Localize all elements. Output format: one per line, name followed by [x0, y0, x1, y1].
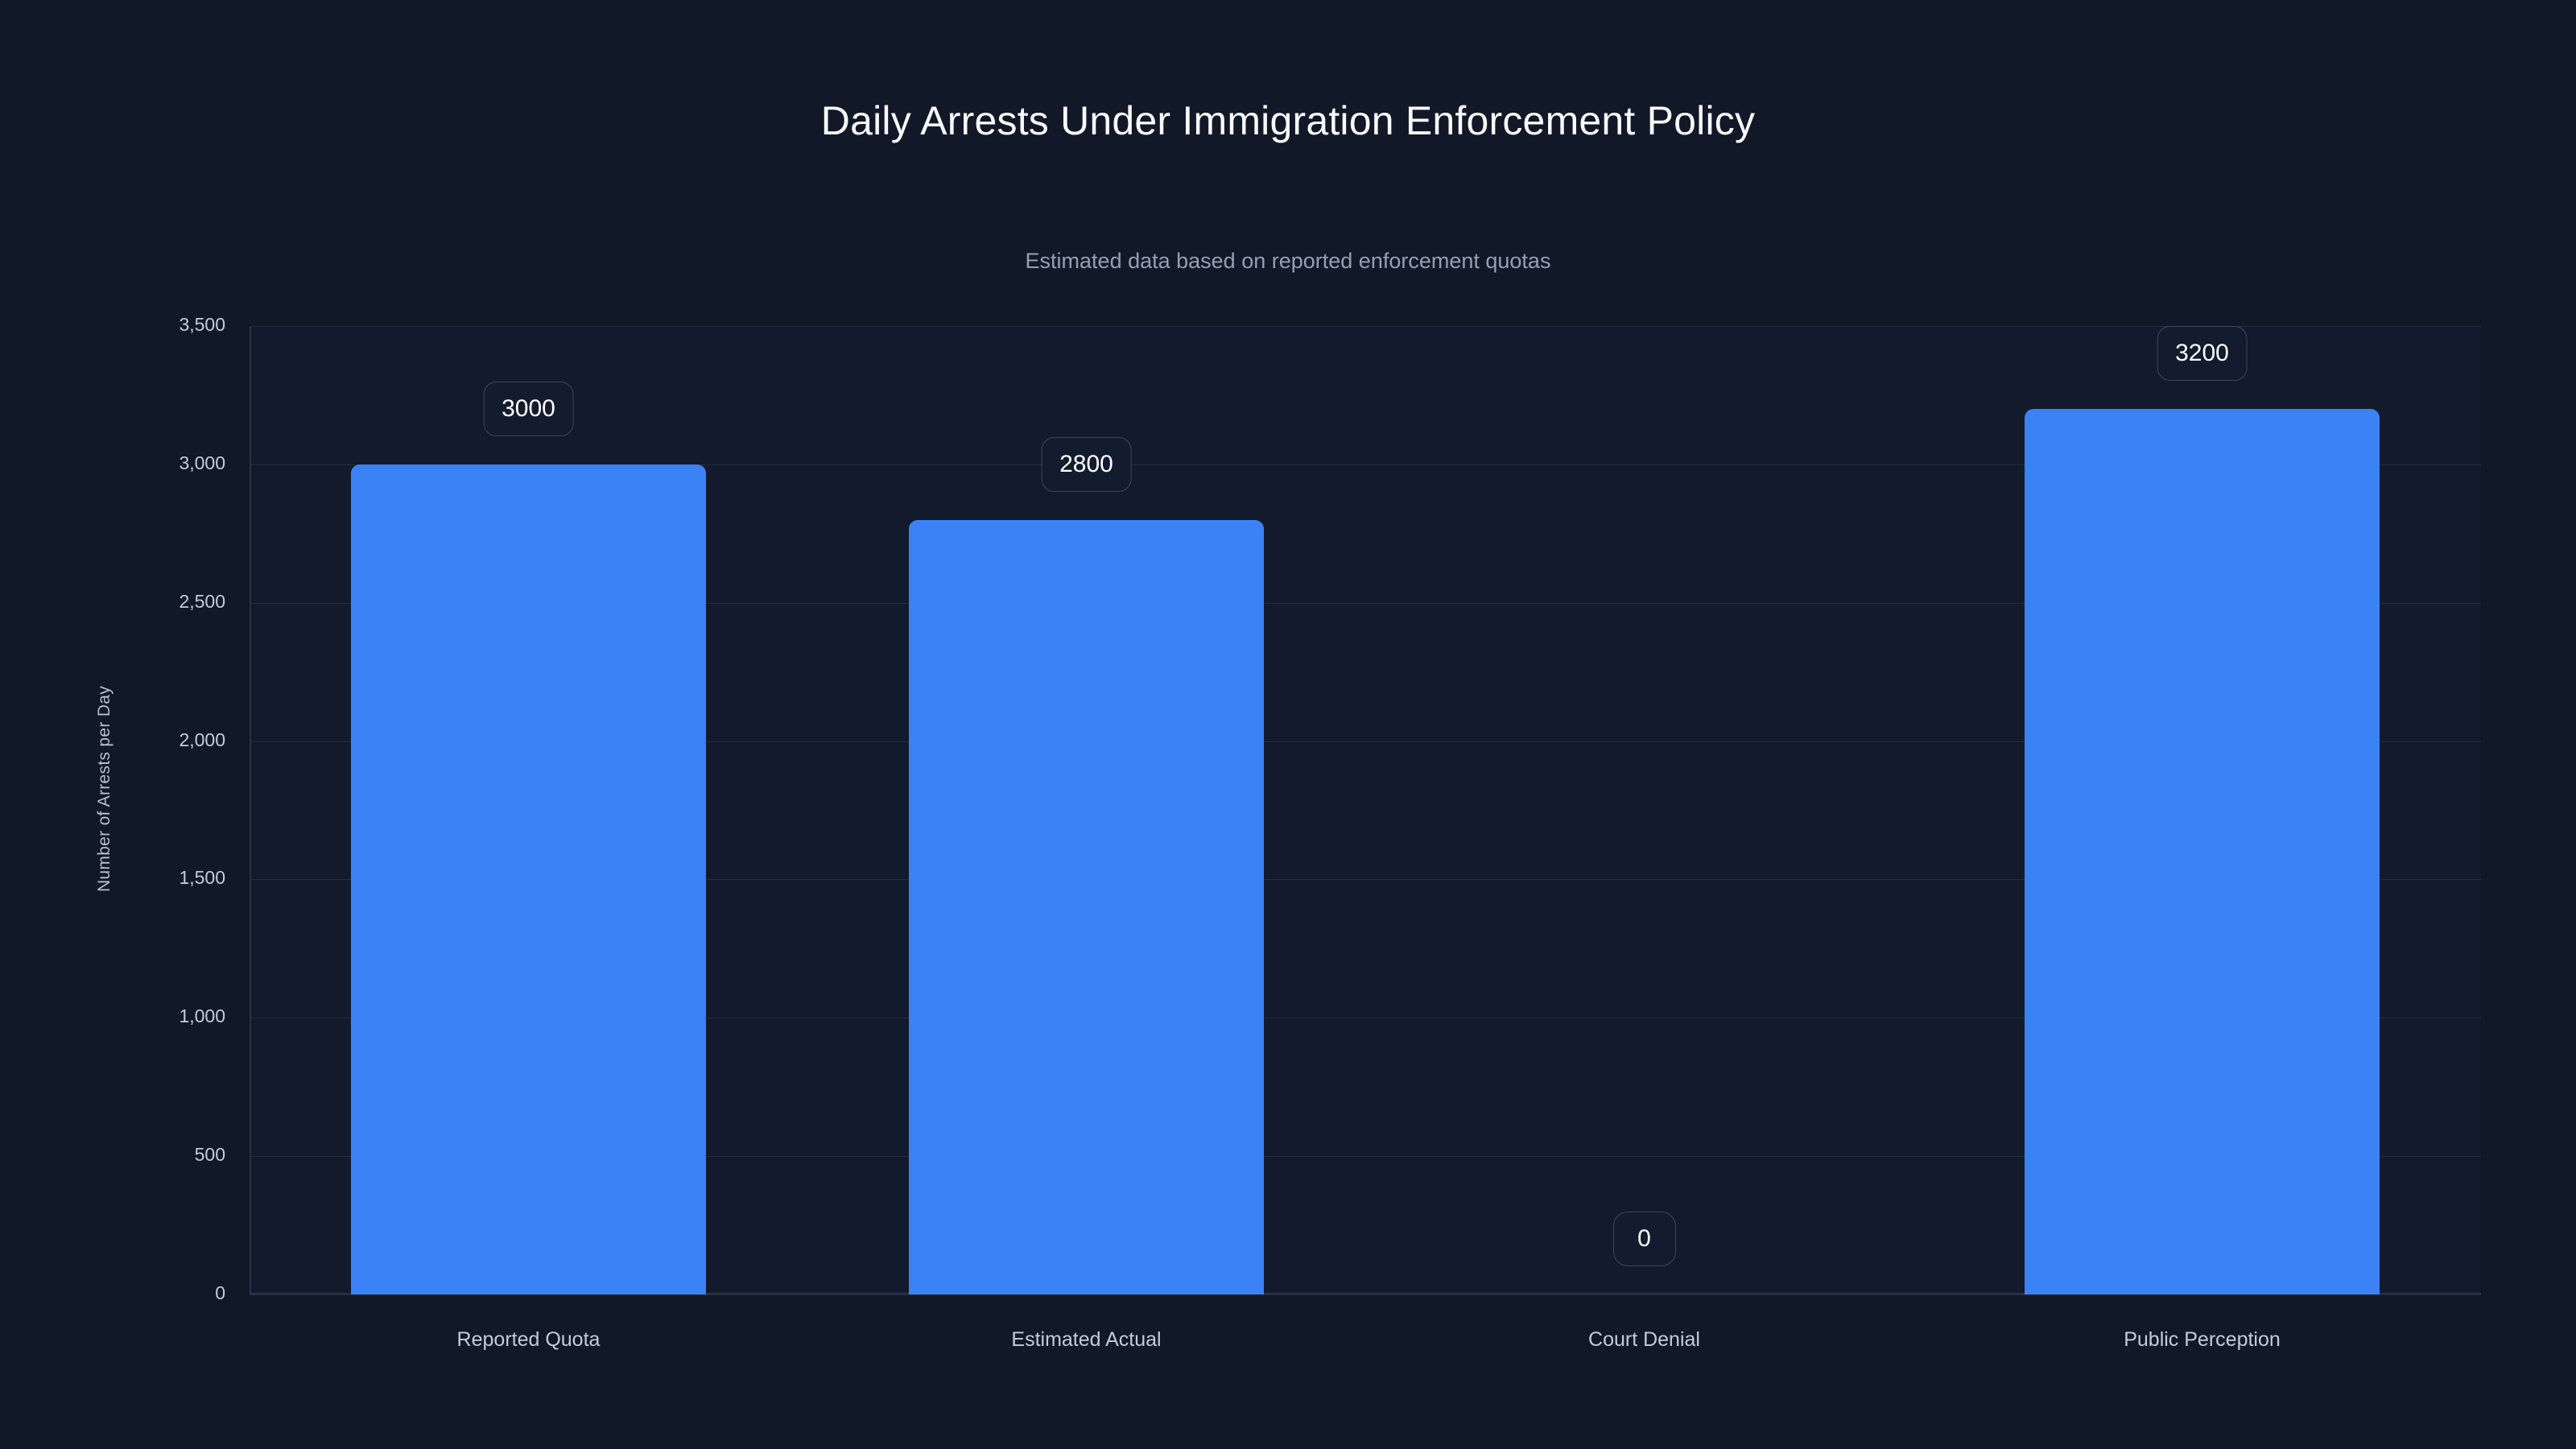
gridline: [250, 326, 2481, 327]
chart-subtitle: Estimated data based on reported enforce…: [0, 248, 2576, 274]
y-axis-tick-label: 2,500: [121, 591, 225, 613]
x-axis-tick-label: Court Denial: [1588, 1328, 1700, 1352]
plot-area: [250, 326, 2481, 1294]
y-axis-tick-label: 0: [121, 1282, 225, 1304]
bar-chart: Daily Arrests Under Immigration Enforcem…: [0, 0, 2576, 1449]
data-label-badge: 0: [1613, 1212, 1676, 1266]
gridline: [250, 1294, 2481, 1295]
x-axis-tick-label: Estimated Actual: [1011, 1328, 1161, 1352]
y-axis-tick-label: 1,000: [121, 1005, 225, 1027]
x-axis-tick-label: Reported Quota: [457, 1328, 601, 1352]
bar[interactable]: [351, 464, 705, 1294]
y-axis-tick-label: 500: [121, 1144, 225, 1166]
chart-title: Daily Arrests Under Immigration Enforcem…: [0, 97, 2576, 145]
data-label-badge: 3200: [2157, 326, 2248, 381]
y-axis-tick-label: 3,000: [121, 452, 225, 474]
bar[interactable]: [909, 520, 1263, 1294]
data-label-badge: 3000: [483, 382, 574, 436]
y-axis-title: Number of Arrests per Day: [95, 686, 114, 892]
y-axis-line: [250, 326, 251, 1294]
x-axis-tick-label: Public Perception: [2124, 1328, 2281, 1352]
data-label-badge: 2800: [1041, 437, 1132, 492]
y-axis-tick-label: 1,500: [121, 867, 225, 889]
y-axis-tick-label: 3,500: [121, 314, 225, 336]
bar[interactable]: [2025, 409, 2379, 1294]
y-axis-tick-label: 2,000: [121, 729, 225, 751]
